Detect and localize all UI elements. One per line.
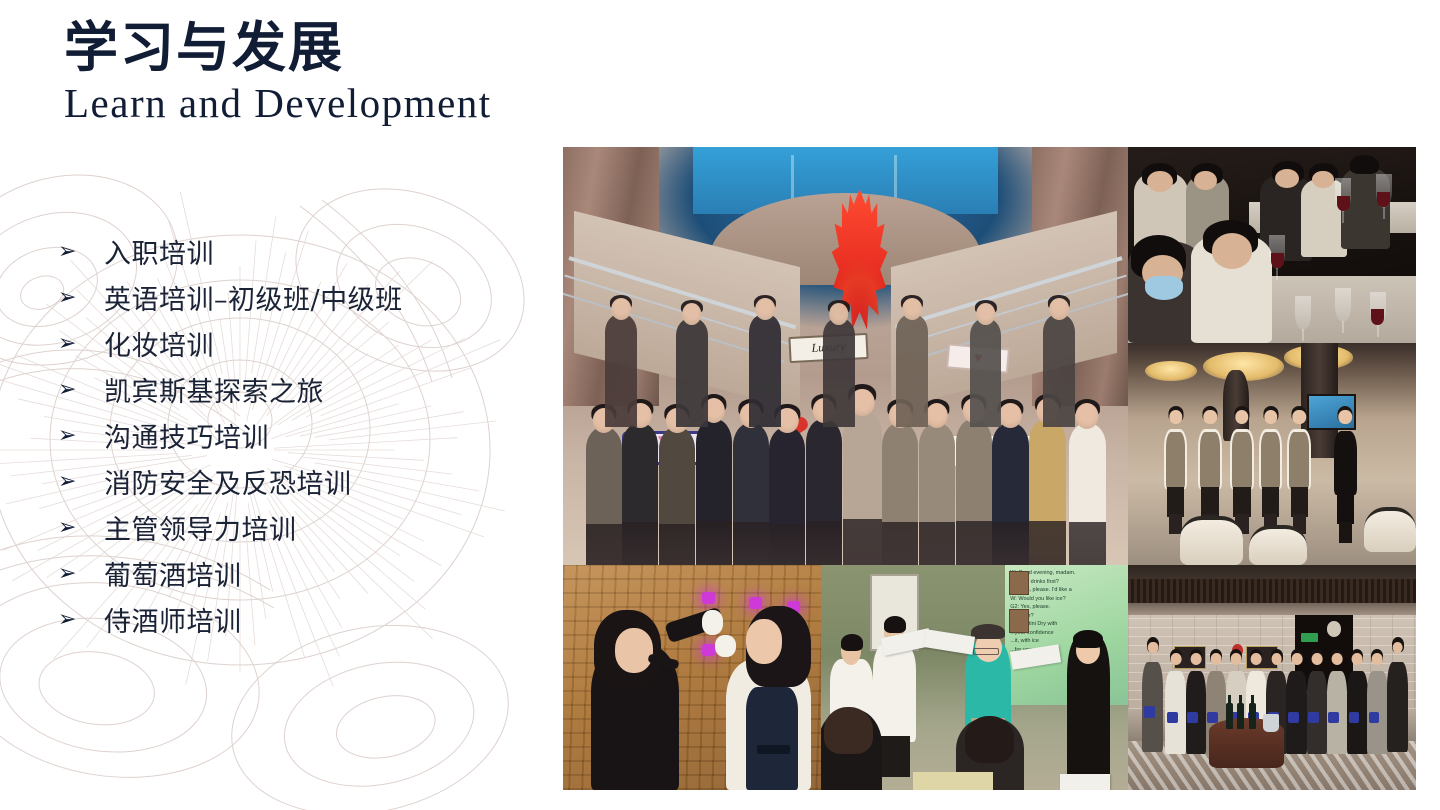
person-figure: [806, 419, 842, 565]
list-item: ➢ 消防安全及反恐培训: [58, 458, 528, 504]
table: [913, 772, 993, 790]
person-figure: [676, 318, 708, 427]
page-title-english: Learn and Development: [64, 78, 492, 128]
person-figure: [1043, 314, 1075, 427]
exit-sign: [1301, 633, 1318, 642]
arrow-bullet-icon: ➢: [58, 424, 104, 446]
list-item-label: 化妆培训: [104, 324, 214, 363]
person-figure: [1163, 410, 1189, 534]
wall-clock: [1327, 621, 1341, 637]
armchair: [1364, 507, 1416, 551]
led-light: [702, 592, 715, 604]
trainer-hair: [971, 624, 1005, 640]
arrow-bullet-icon: ➢: [58, 332, 104, 354]
person-figure: [1165, 653, 1186, 777]
ceiling-slats: [1128, 579, 1416, 604]
list-item-label: 凯宾斯基探索之旅: [104, 370, 324, 409]
person-figure: [586, 427, 622, 565]
model-face: [746, 619, 782, 664]
list-item: ➢ 侍酒师培训: [58, 596, 528, 642]
person-figure: [749, 314, 781, 427]
list-item: ➢ 凯宾斯基探索之旅: [58, 366, 528, 412]
list-item: ➢ 沟通技巧培训: [58, 412, 528, 458]
wine-glass: [1269, 235, 1285, 269]
handout-paper: [1060, 774, 1109, 790]
armchair: [1180, 516, 1243, 565]
person-figure: [769, 427, 805, 565]
trainer-figure: [1332, 410, 1358, 543]
person-figure: [896, 314, 928, 427]
arrow-bullet-icon: ➢: [58, 470, 104, 492]
projector-line: ...it, with ice: [1010, 637, 1123, 646]
person-figure: [970, 318, 1002, 427]
arrow-bullet-icon: ➢: [58, 562, 104, 584]
person-figure: [1307, 653, 1328, 777]
list-item: ➢ 葡萄酒培训: [58, 550, 528, 596]
person-figure: [1327, 653, 1348, 777]
person-figure: [1142, 642, 1163, 777]
person-figure: [992, 423, 1028, 565]
person-figure: [1347, 653, 1368, 777]
english-class-photo: W: Good evening, madam. to order drinks …: [821, 565, 1128, 790]
training-program-list: ➢ 入职培训 ➢ 英语培训–初级班/中级班 ➢ 化妆培训 ➢ 凯宾斯基探索之旅 …: [58, 228, 528, 642]
person-figure: [823, 318, 855, 427]
wine-glass: [1335, 178, 1351, 212]
list-item: ➢ 入职培训: [58, 228, 528, 274]
wine-bottle: [1249, 703, 1256, 729]
person-figure: [1387, 642, 1408, 777]
wine-bottle: [1237, 703, 1244, 729]
list-item: ➢ 主管领导力培训: [58, 504, 528, 550]
name-badge: [757, 745, 791, 754]
face: [1194, 171, 1217, 191]
person-figure: [956, 419, 992, 565]
person-figure: [919, 423, 955, 565]
makeup-training-photo: [563, 565, 821, 790]
person-figure: [1029, 419, 1066, 565]
hair: [1350, 155, 1379, 175]
list-item-label: 消防安全及反恐培训: [104, 462, 352, 501]
makeup-sponge: [715, 635, 736, 658]
person-figure: [733, 423, 769, 565]
face: [1147, 171, 1173, 193]
person-figure: [1258, 410, 1284, 534]
arrow-bullet-icon: ➢: [58, 286, 104, 308]
person-figure: [605, 314, 637, 427]
list-item-label: 入职培训: [104, 232, 214, 271]
wine-glass: [1376, 174, 1392, 208]
led-light: [749, 597, 762, 609]
list-item-label: 沟通技巧培训: [104, 416, 269, 455]
slide-avatar: [1009, 571, 1029, 595]
arrow-bullet-icon: ➢: [58, 608, 104, 630]
person-figure: [1186, 653, 1207, 777]
list-item-label: 葡萄酒培训: [104, 554, 242, 593]
wine-bottle: [1226, 703, 1233, 729]
trainer-face: [615, 628, 654, 673]
eyeglasses-icon: [973, 648, 999, 655]
face: [1312, 171, 1334, 189]
person-figure: [1286, 410, 1312, 534]
person-figure: [1286, 653, 1307, 777]
slide-title-block: 学习与发展 Learn and Development: [64, 18, 492, 128]
led-light: [702, 644, 715, 656]
list-item-label: 主管领导力培训: [104, 508, 297, 547]
person-figure: [882, 423, 918, 565]
hair: [1073, 630, 1104, 648]
arrow-bullet-icon: ➢: [58, 240, 104, 262]
slide-avatar: [1009, 609, 1029, 633]
group-photo: Luxury ♥ ♥♥♥ DNA Grand Kempinski Hotel ♥…: [563, 147, 1128, 565]
armchair: [1249, 525, 1307, 565]
person-figure: [1229, 410, 1255, 534]
face: [1212, 233, 1252, 268]
arrow-bullet-icon: ➢: [58, 378, 104, 400]
person-figure: [1367, 653, 1388, 777]
face-mask: [1145, 276, 1182, 300]
lobby-tour-photo: [1128, 343, 1416, 565]
person-figure: [843, 410, 883, 565]
list-item-label: 英语培训–初级班/中级班: [104, 278, 403, 317]
projector-line: W: Would you like ice?: [1010, 595, 1123, 604]
seated-person-hair: [824, 707, 873, 754]
wine-glass: [1370, 292, 1386, 326]
seated-person-hair: [965, 716, 1014, 763]
page-title-chinese: 学习与发展: [64, 18, 492, 76]
arrow-bullet-icon: ➢: [58, 516, 104, 538]
handout-paper: [924, 629, 975, 654]
model-vest: [746, 687, 798, 791]
person-figure: [622, 423, 658, 565]
list-item-label: 侍酒师培训: [104, 600, 242, 639]
person-figure: [1069, 423, 1106, 565]
list-item: ➢ 英语培训–初级班/中级班: [58, 274, 528, 320]
person-figure: [659, 427, 695, 565]
chandelier: [1145, 361, 1197, 381]
photo-collage: Luxury ♥ ♥♥♥ DNA Grand Kempinski Hotel ♥…: [563, 147, 1416, 790]
makeup-sponge: [702, 610, 723, 635]
ice-bucket: [1263, 714, 1279, 732]
certificate-group-photo: [1128, 565, 1416, 790]
list-item: ➢ 化妆培训: [58, 320, 528, 366]
wine-tasting-photo: [1128, 147, 1416, 343]
wine-glass: [1295, 296, 1311, 330]
person-figure: [696, 419, 732, 565]
